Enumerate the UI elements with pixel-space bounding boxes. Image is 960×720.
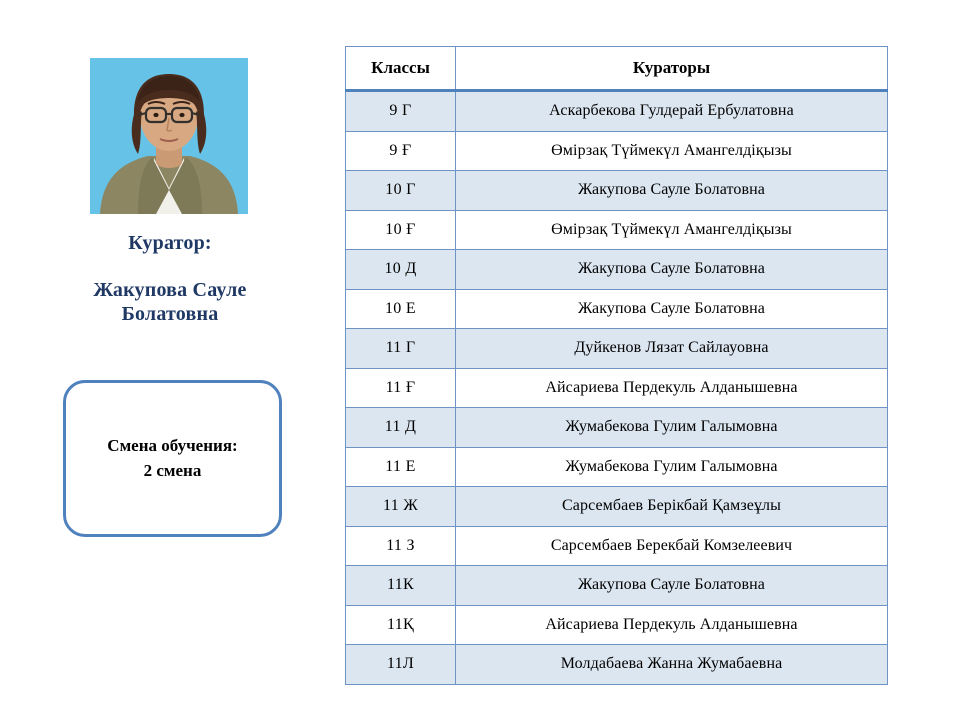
cell-curator: Жакупова Сауле Болатовна	[456, 171, 888, 211]
cell-curator: Аскарбекова Гулдерай Ербулатовна	[456, 91, 888, 132]
cell-curator: Сарсембаев Берікбай Қамзеұлы	[456, 487, 888, 527]
curator-info-panel: Куратор: Жакупова Сауле Болатовна Смена …	[0, 0, 340, 720]
cell-class: 10 Ғ	[346, 210, 456, 250]
shift-value: 2 смена	[107, 459, 237, 483]
cell-class: 11 Е	[346, 447, 456, 487]
cell-class: 10 Е	[346, 289, 456, 329]
cell-curator: Өмірзақ Түймекүл Амангелдіқызы	[456, 131, 888, 171]
table-header: Классы Кураторы	[346, 47, 888, 91]
curator-name-line1: Жакупова Сауле	[20, 278, 320, 302]
table-row: 11 ДЖумабекова Гулим Галымовна	[346, 408, 888, 448]
table-row: 11 ҒАйсариева Пердекуль Алданышевна	[346, 368, 888, 408]
slide-root: Куратор: Жакупова Сауле Болатовна Смена …	[0, 0, 960, 720]
table-row: 11КЖакупова Сауле Болатовна	[346, 566, 888, 606]
cell-class: 11Қ	[346, 605, 456, 645]
cell-curator: Айсариева Пердекуль Алданышевна	[456, 368, 888, 408]
cell-class: 9 Г	[346, 91, 456, 132]
cell-curator: Дуйкенов Лязат Сайлауовна	[456, 329, 888, 369]
shift-info-text: Смена обучения: 2 смена	[107, 434, 237, 482]
curator-name: Жакупова Сауле Болатовна	[20, 278, 320, 327]
cell-curator: Сарсембаев Берекбай Комзелеевич	[456, 526, 888, 566]
cell-class: 11 Д	[346, 408, 456, 448]
table-row: 11 ГДуйкенов Лязат Сайлауовна	[346, 329, 888, 369]
cell-class: 11Л	[346, 645, 456, 685]
shift-info-box: Смена обучения: 2 смена	[63, 380, 282, 537]
table-row: 11 ЖСарсембаев Берікбай Қамзеұлы	[346, 487, 888, 527]
curators-table-container: Классы Кураторы 9 ГАскарбекова Гулдерай …	[345, 46, 887, 685]
cell-curator: Жакупова Сауле Болатовна	[456, 566, 888, 606]
cell-curator: Жумабекова Гулим Галымовна	[456, 447, 888, 487]
cell-class: 11 Ғ	[346, 368, 456, 408]
curator-heading: Куратор:	[20, 232, 320, 255]
cell-class: 10 Д	[346, 250, 456, 290]
table-row: 9 ГАскарбекова Гулдерай Ербулатовна	[346, 91, 888, 132]
table-row: 11ЛМолдабаева Жанна Жумабаевна	[346, 645, 888, 685]
portrait-image	[90, 58, 248, 214]
table-row: 11 ЗСарсембаев Берекбай Комзелеевич	[346, 526, 888, 566]
cell-curator: Жумабекова Гулим Галымовна	[456, 408, 888, 448]
cell-class: 9 Ғ	[346, 131, 456, 171]
cell-class: 11 З	[346, 526, 456, 566]
cell-class: 11 Ж	[346, 487, 456, 527]
table-row: 10 ЕЖакупова Сауле Болатовна	[346, 289, 888, 329]
cell-curator: Жакупова Сауле Болатовна	[456, 289, 888, 329]
column-header-class: Классы	[346, 47, 456, 91]
curator-name-line2: Болатовна	[20, 302, 320, 326]
cell-class: 10 Г	[346, 171, 456, 211]
cell-curator: Жакупова Сауле Болатовна	[456, 250, 888, 290]
table-header-row: Классы Кураторы	[346, 47, 888, 91]
curators-table: Классы Кураторы 9 ГАскарбекова Гулдерай …	[345, 46, 888, 685]
cell-class: 11К	[346, 566, 456, 606]
table-row: 11ҚАйсариева Пердекуль Алданышевна	[346, 605, 888, 645]
cell-curator: Өмірзақ Түймекүл Амангелдіқызы	[456, 210, 888, 250]
table-row: 9 ҒӨмірзақ Түймекүл Амангелдіқызы	[346, 131, 888, 171]
table-row: 10 ҒӨмірзақ Түймекүл Амангелдіқызы	[346, 210, 888, 250]
table-row: 11 ЕЖумабекова Гулим Галымовна	[346, 447, 888, 487]
cell-class: 11 Г	[346, 329, 456, 369]
curator-portrait	[90, 58, 248, 214]
cell-curator: Айсариева Пердекуль Алданышевна	[456, 605, 888, 645]
cell-curator: Молдабаева Жанна Жумабаевна	[456, 645, 888, 685]
table-body: 9 ГАскарбекова Гулдерай Ербулатовна9 ҒӨм…	[346, 91, 888, 685]
shift-label: Смена обучения:	[107, 434, 237, 458]
table-row: 10 ГЖакупова Сауле Болатовна	[346, 171, 888, 211]
column-header-curator: Кураторы	[456, 47, 888, 91]
table-row: 10 ДЖакупова Сауле Болатовна	[346, 250, 888, 290]
